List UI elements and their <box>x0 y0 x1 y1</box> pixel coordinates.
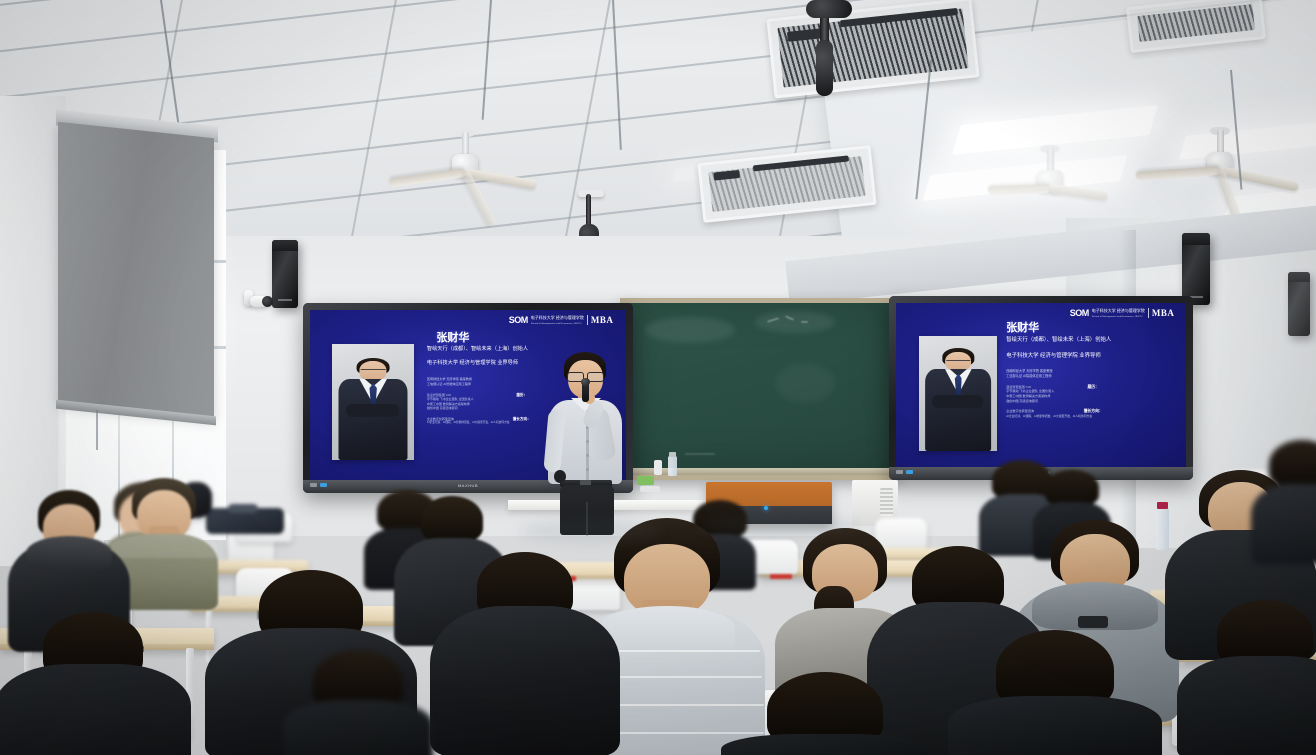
display-buttons[interactable] <box>310 483 327 487</box>
water-bottle-cap <box>1157 502 1168 509</box>
student <box>298 650 418 755</box>
student-black-jacket-near <box>440 552 610 755</box>
lectern-led <box>764 506 768 510</box>
slide-line: 融创中国 高级咨询顾问 <box>1006 399 1180 404</box>
university-name-en: School of Management and Economics, UEST… <box>531 322 584 324</box>
slide-speaker-name: 张财华 <box>1006 319 1039 335</box>
university-name-cn: 电子科技大学 经济与管理学院 <box>1092 308 1145 314</box>
slide-line: 工信部认证 AI智能体应用工程师 <box>1006 374 1180 379</box>
boom-mount <box>578 190 604 197</box>
slide-line: 擅长方向： <box>1084 409 1103 415</box>
ceiling-microphone <box>816 40 833 96</box>
ceiling-fan <box>1150 130 1290 188</box>
student-near-right <box>960 630 1150 755</box>
mba-label: MBA <box>591 315 614 325</box>
blind-cord[interactable] <box>96 410 98 450</box>
speaker-portrait <box>919 336 997 451</box>
desk-bottle-cap <box>669 452 676 457</box>
ceiling-camera <box>806 0 852 18</box>
desk-item <box>640 486 660 492</box>
boom-pole <box>586 194 591 228</box>
som-logo-text: SOM <box>509 315 528 325</box>
slide-line: 电子科技大学 经济与管理学院 业界导师 <box>1006 352 1180 360</box>
ceiling-fan <box>400 132 530 188</box>
slide-screen-right: SOM 电子科技大学 经济与管理学院 School of Management … <box>896 303 1186 467</box>
desk-cup <box>654 460 662 475</box>
security-camera-lens <box>262 296 273 307</box>
desk-bottle <box>668 456 677 476</box>
microphone-head <box>581 378 590 386</box>
wall-speaker-left <box>272 240 298 308</box>
student <box>1262 440 1316 560</box>
mba-label: MBA <box>1152 308 1175 318</box>
desk-marker-box <box>637 476 654 485</box>
presenter <box>540 352 636 532</box>
slide-speaker-name: 张财华 <box>436 329 469 345</box>
slide-logo: SOM 电子科技大学 经济与管理学院 School of Management … <box>509 315 614 325</box>
wall-speaker-far-right <box>1288 272 1310 336</box>
student-dark-jacket-far-right <box>1190 600 1316 755</box>
student-bottom-center <box>730 672 920 755</box>
display-brand-left: MAXHUB <box>458 483 478 488</box>
speaker-portrait <box>332 344 414 460</box>
som-logo-text: SOM <box>1070 308 1089 318</box>
classroom-scene: SOM 电子科技大学 经济与管理学院 School of Management … <box>0 0 1316 755</box>
wall-speaker-right <box>1182 233 1210 305</box>
student-olive-sweater <box>118 478 210 608</box>
slide-body-text: 智绘天行（成都）、智绘未来（上海）创始人 电子科技大学 经济与管理学院 业界导师… <box>1006 336 1180 418</box>
university-name-cn: 电子科技大学 经济与管理学院 <box>531 315 584 321</box>
display-buttons[interactable] <box>896 470 913 474</box>
slide-line: 智绘天行（成都）、智绘未来（上海）创始人 <box>1006 336 1180 344</box>
slide-logo: SOM 电子科技大学 经济与管理学院 School of Management … <box>1070 308 1175 318</box>
chalkboard <box>620 298 900 480</box>
smart-display-right[interactable]: SOM 电子科技大学 经济与管理学院 School of Management … <box>889 296 1193 480</box>
window-blind[interactable] <box>58 122 214 418</box>
backpack-strap <box>228 504 258 513</box>
student-near-left <box>8 612 178 755</box>
slide-line: 履历： <box>1087 385 1098 391</box>
ceiling-fan <box>1000 148 1100 194</box>
university-name-en: School of Management and Economics, UEST… <box>1092 315 1145 317</box>
